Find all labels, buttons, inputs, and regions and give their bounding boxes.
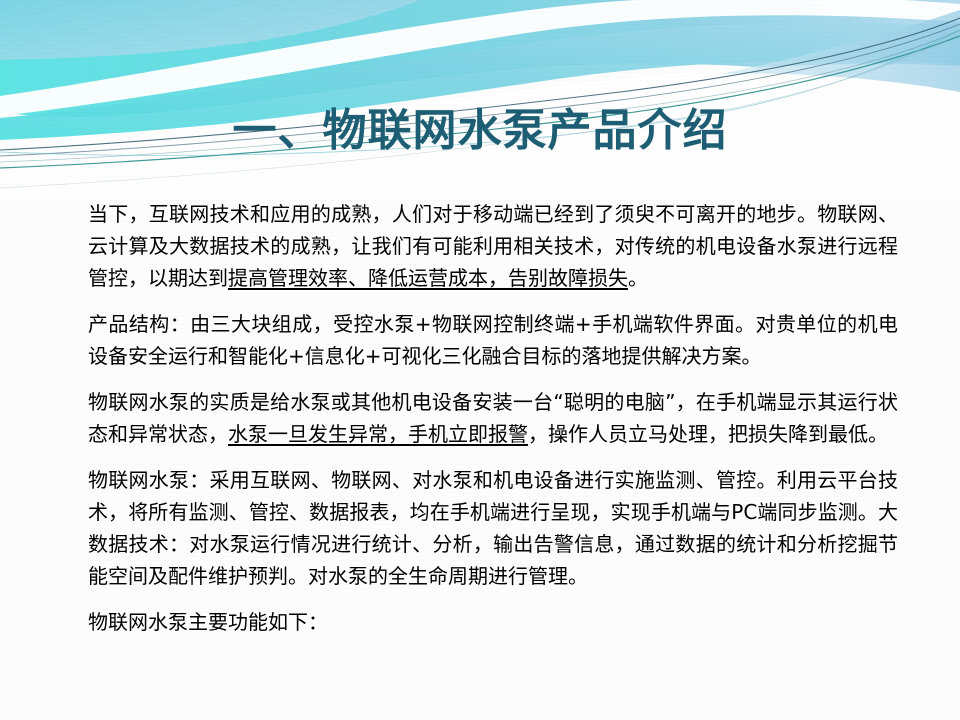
text-run: 物联网水泵主要功能如下： bbox=[88, 610, 328, 634]
text-run: 。 bbox=[628, 266, 648, 290]
presentation-slide: 一、物联网水泵产品介绍 当下，互联网技术和应用的成熟，人们对于移动端已经到了须臾… bbox=[0, 0, 960, 720]
paragraph-4: 物联网水泵：采用互联网、物联网、对水泵和机电设备进行实施监测、管控。利用云平台技… bbox=[88, 464, 898, 592]
emphasis-underlined-run: 水泵一旦发生异常，手机立即报警 bbox=[228, 422, 528, 446]
wave-banner-decoration bbox=[0, 0, 960, 200]
paragraph-5: 物联网水泵主要功能如下： bbox=[88, 606, 898, 638]
text-run: 产品结构：由三大块组成，受控水泵+物联网控制终端+手机端软件界面。对贵单位的机电… bbox=[88, 312, 898, 368]
paragraph-3: 物联网水泵的实质是给水泵或其他机电设备安装一台“聪明的电脑”，在手机端显示其运行… bbox=[88, 386, 898, 450]
title-block: 一、物联网水泵产品介绍 bbox=[0, 102, 960, 160]
page-title: 一、物联网水泵产品介绍 bbox=[233, 102, 728, 160]
body-text-block: 当下，互联网技术和应用的成熟，人们对于移动端已经到了须臾不可离开的地步。物联网、… bbox=[88, 198, 898, 638]
text-run: ，操作人员立马处理，把损失降到最低。 bbox=[528, 422, 888, 446]
text-run: 物联网水泵：采用互联网、物联网、对水泵和机电设备进行实施监测、管控。利用云平台技… bbox=[88, 468, 898, 588]
paragraph-2: 产品结构：由三大块组成，受控水泵+物联网控制终端+手机端软件界面。对贵单位的机电… bbox=[88, 308, 898, 372]
paragraph-1: 当下，互联网技术和应用的成熟，人们对于移动端已经到了须臾不可离开的地步。物联网、… bbox=[88, 198, 898, 294]
emphasis-underlined-run: 提高管理效率、降低运营成本，告别故障损失 bbox=[228, 266, 628, 290]
